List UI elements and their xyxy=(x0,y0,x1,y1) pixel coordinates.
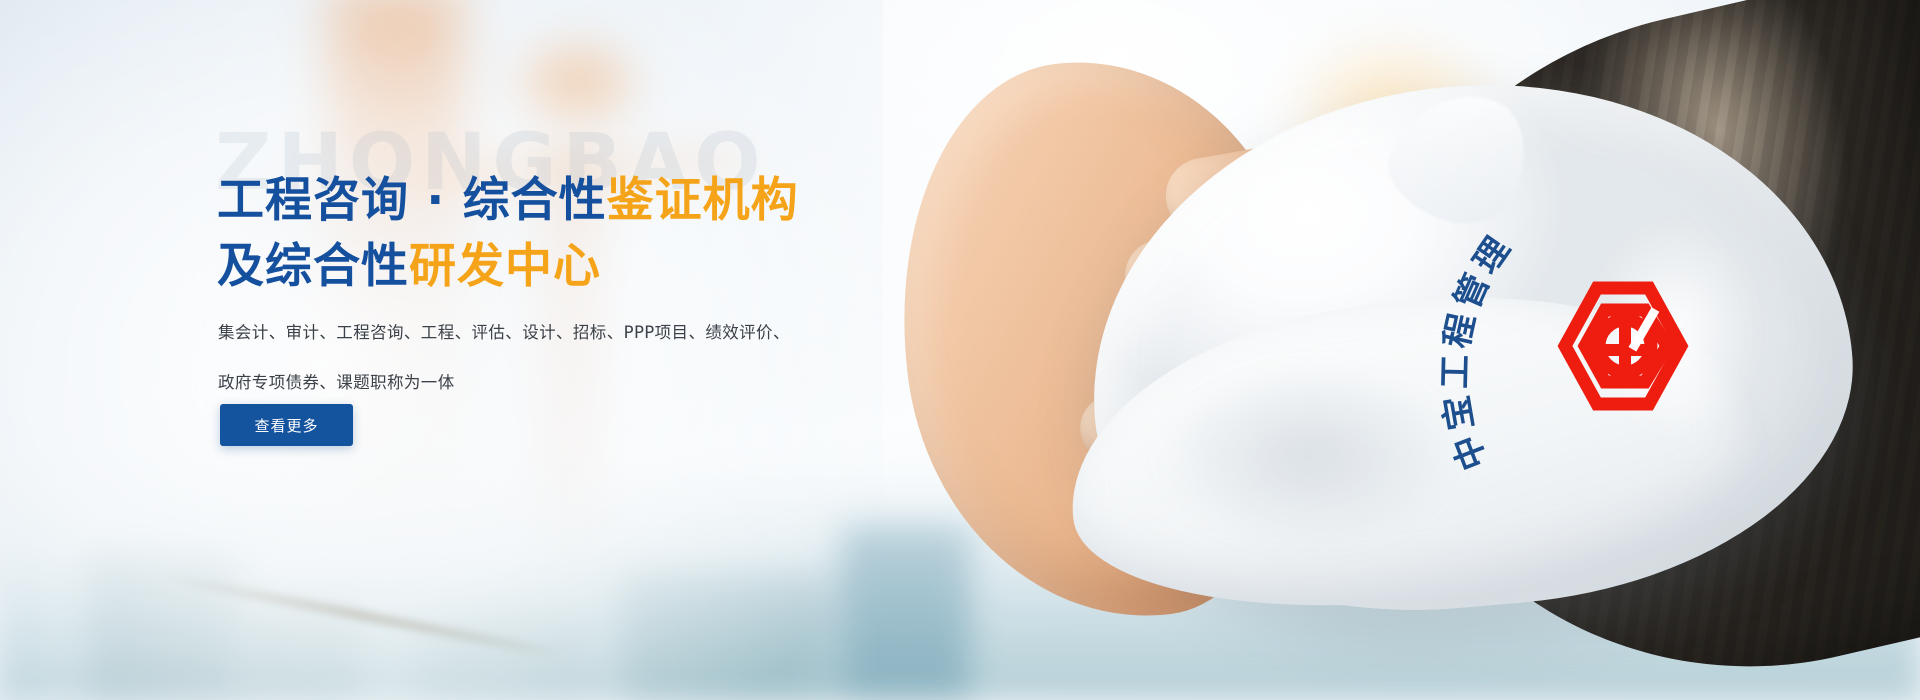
description-line-1: 集会计、审计、工程咨询、工程、评估、设计、招标、PPP项目、绩效评价、 xyxy=(218,308,818,358)
headline-line-2-gold: 研发中心 xyxy=(409,239,601,294)
hero-banner: 中宝工程管理 ZHONGBAO 工程咨询 · 综合性鉴证机构 xyxy=(0,0,1920,700)
banner-content: ZHONGBAO 工程咨询 · 综合性鉴证机构 及综合性研发中心 集会计、审计、… xyxy=(215,0,915,700)
headline-line-1: 工程咨询 · 综合性鉴证机构 xyxy=(217,168,897,234)
description-line-2: 政府专项债券、课题职称为一体 xyxy=(218,358,818,408)
headline-line-2-blue: 及综合性 xyxy=(217,239,409,294)
headline-line-1-gold: 鉴证机构 xyxy=(607,173,799,228)
headline-line-2: 及综合性研发中心 xyxy=(217,234,897,300)
zhongbao-hexagon-logo xyxy=(1553,280,1693,412)
view-more-button[interactable]: 查看更多 xyxy=(220,404,353,446)
banner-description: 集会计、审计、工程咨询、工程、评估、设计、招标、PPP项目、绩效评价、 政府专项… xyxy=(218,308,818,408)
headline-line-1-blue: 工程咨询 · 综合性 xyxy=(217,173,607,228)
headline: 工程咨询 · 综合性鉴证机构 及综合性研发中心 xyxy=(217,168,897,300)
